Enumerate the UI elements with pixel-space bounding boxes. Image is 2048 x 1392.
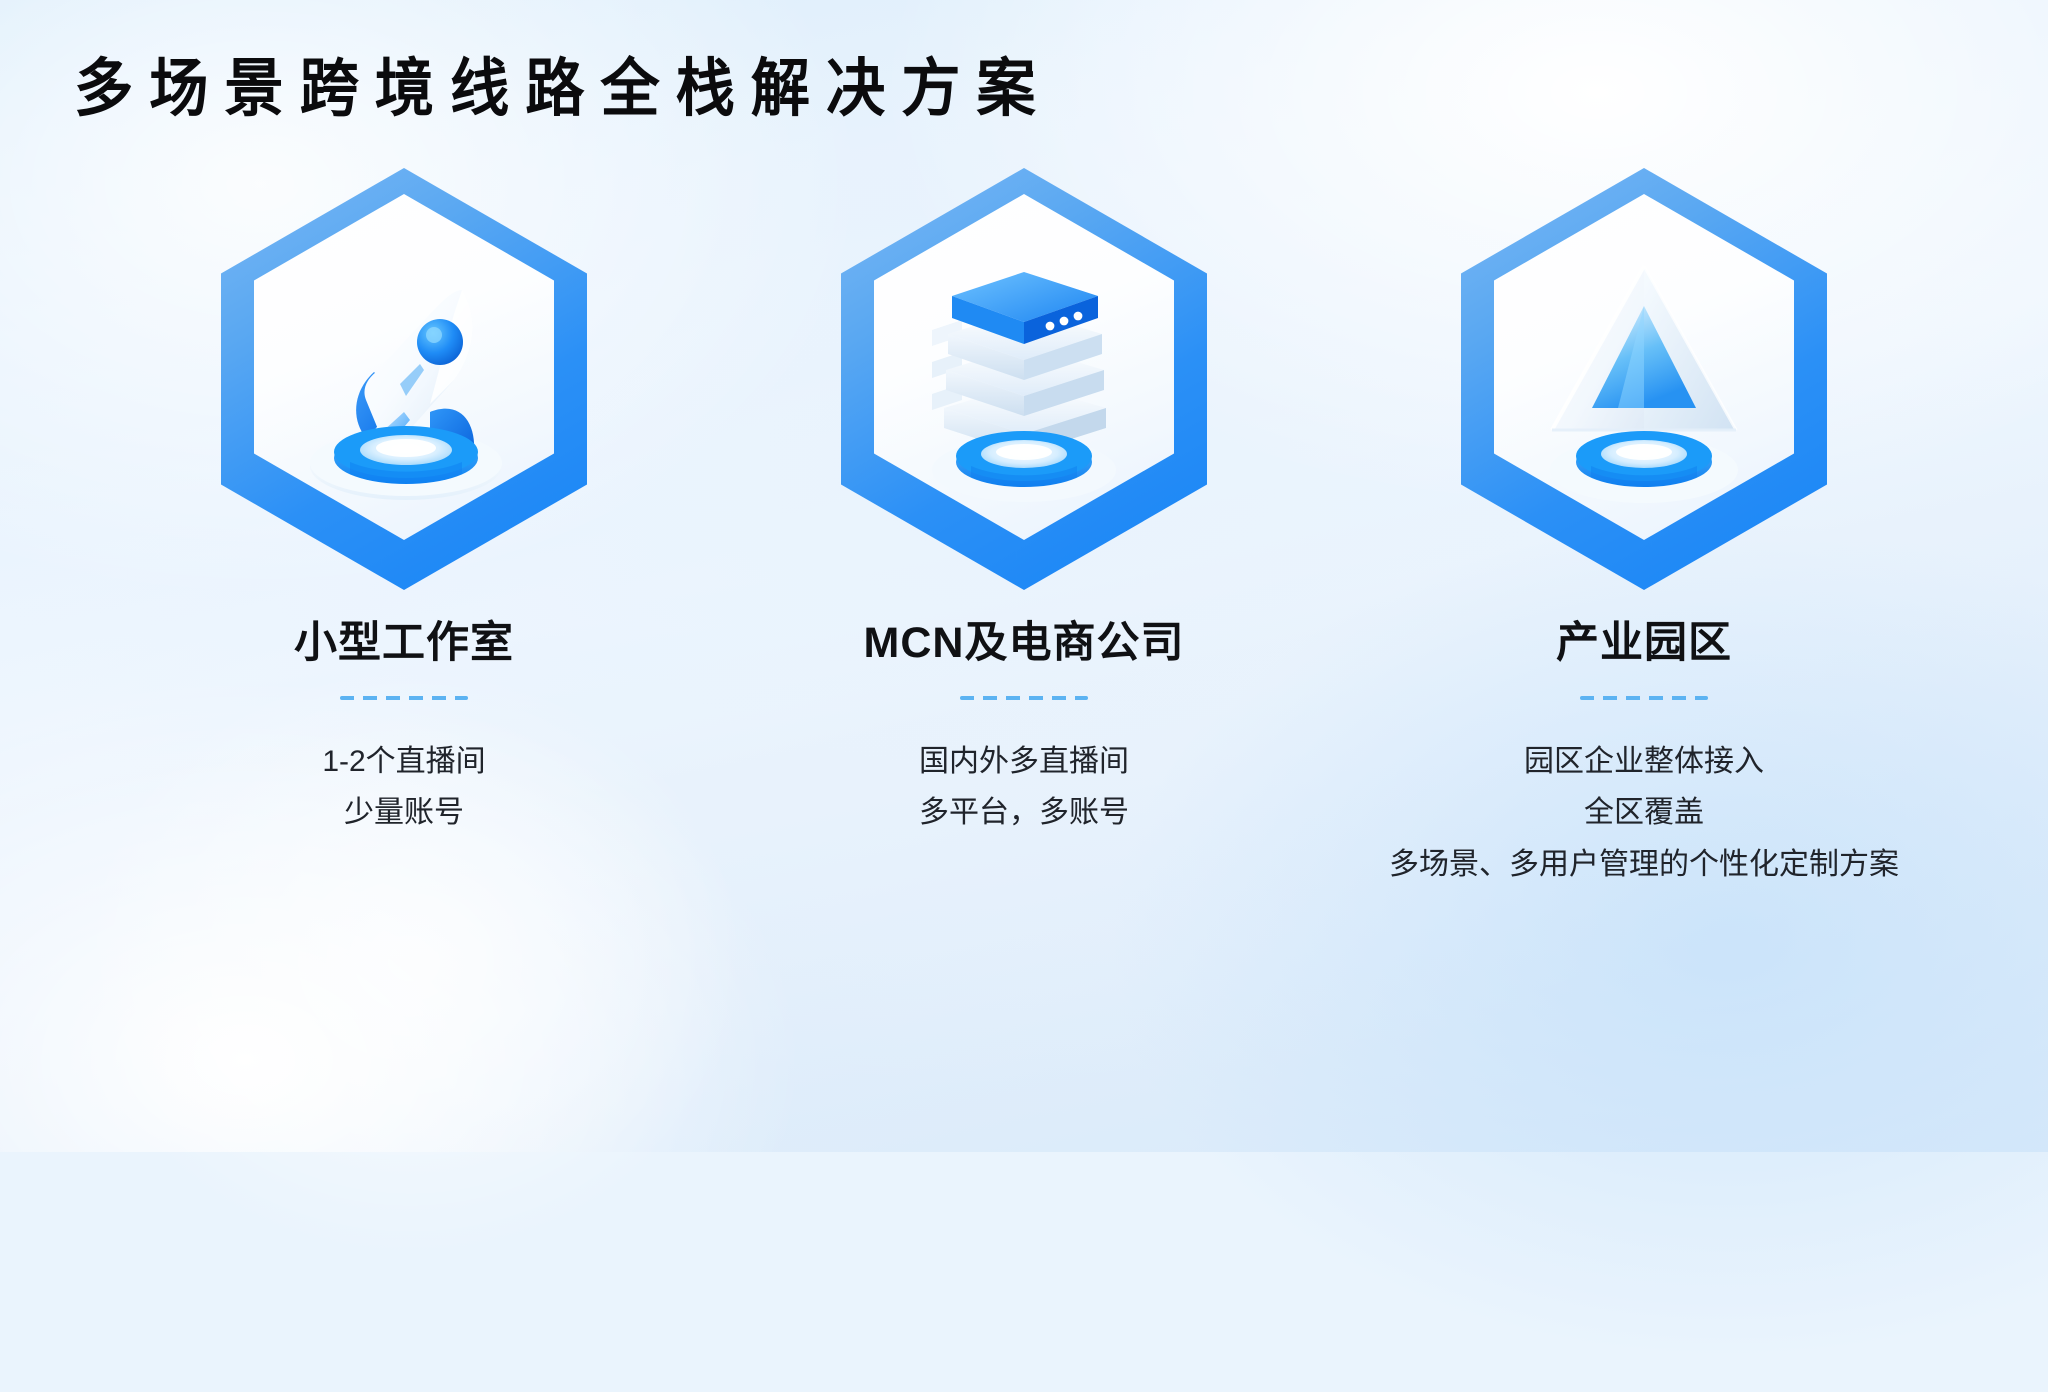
hexagon-badge xyxy=(833,168,1215,608)
solution-card[interactable]: MCN及电商公司 国内外多直播间 多平台，多账号 xyxy=(714,168,1334,839)
card-title: MCN及电商公司 xyxy=(864,618,1185,670)
solution-card-list: 小型工作室 1-2个直播间 少量账号 xyxy=(0,168,2048,890)
server-stack-icon xyxy=(874,194,1174,540)
solution-card[interactable]: 产业园区 园区企业整体接入 全区覆盖 多场景、多用户管理的个性化定制方案 xyxy=(1334,168,1954,890)
pyramid-icon xyxy=(1494,194,1794,540)
card-title: 产业园区 xyxy=(1556,618,1732,670)
dashed-divider xyxy=(960,696,1088,700)
card-description-line: 园区企业整体接入 xyxy=(1389,736,1899,788)
card-description: 国内外多直播间 多平台，多账号 xyxy=(919,736,1129,839)
solution-card[interactable]: 小型工作室 1-2个直播间 少量账号 xyxy=(94,168,714,839)
card-description: 1-2个直播间 少量账号 xyxy=(322,736,485,839)
card-description: 园区企业整体接入 全区覆盖 多场景、多用户管理的个性化定制方案 xyxy=(1389,736,1899,891)
page-title: 多场景跨境线路全栈解决方案 xyxy=(74,54,1052,125)
hexagon-badge xyxy=(1453,168,1835,608)
card-description-line: 多平台，多账号 xyxy=(919,787,1129,839)
dashed-divider xyxy=(1580,696,1708,700)
card-description-line: 少量账号 xyxy=(322,787,485,839)
card-description-line: 1-2个直播间 xyxy=(322,736,485,788)
poster-canvas: 多场景跨境线路全栈解决方案 xyxy=(0,0,2048,1152)
card-description-line: 多场景、多用户管理的个性化定制方案 xyxy=(1389,839,1899,891)
card-description-line: 全区覆盖 xyxy=(1389,787,1899,839)
dashed-divider xyxy=(340,696,468,700)
hexagon-badge xyxy=(213,168,595,608)
card-title: 小型工作室 xyxy=(294,618,514,670)
rocket-icon xyxy=(254,194,554,540)
card-description-line: 国内外多直播间 xyxy=(919,736,1129,788)
